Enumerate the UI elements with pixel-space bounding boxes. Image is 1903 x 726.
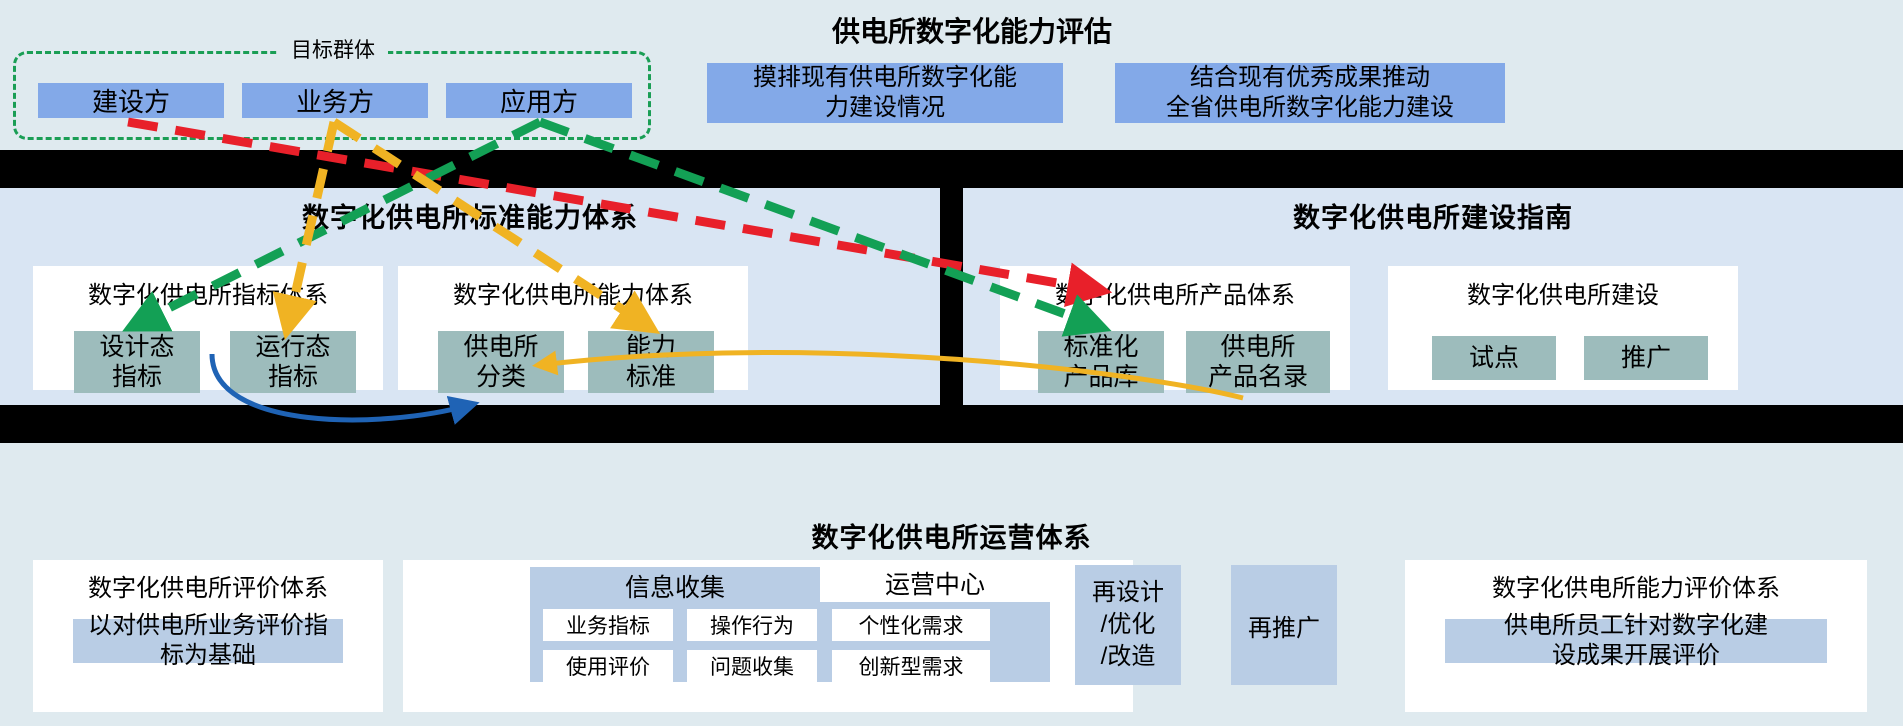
leaf-station-product-catalog[interactable]: 供电所 产品名录 xyxy=(1186,331,1330,393)
leaf-station-product-catalog-label: 供电所 产品名录 xyxy=(1208,332,1308,392)
ops-center-label: 运营中心 xyxy=(820,564,1050,602)
top-message-0: 摸排现有供电所数字化能 力建设情况 xyxy=(707,63,1063,123)
leaf-station-classification-label: 供电所 分类 xyxy=(463,332,538,392)
target-group-item-0-label: 建设方 xyxy=(92,82,170,119)
chip-innovative-demand-label: 创新型需求 xyxy=(859,651,964,681)
card-evaluation-system-title: 数字化供电所评价体系 xyxy=(33,568,383,603)
info-collect-label: 信息收集 xyxy=(530,567,820,605)
chip-operation-behavior-label: 操作行为 xyxy=(710,610,794,640)
leaf-capability-standard[interactable]: 能力 标准 xyxy=(588,331,714,393)
leaf-capability-standard-label: 能力 标准 xyxy=(626,332,676,392)
info-collect-label-text: 信息收集 xyxy=(625,568,725,604)
target-group-label: 目标群体 xyxy=(278,36,388,66)
card-station-construction-title: 数字化供电所建设 xyxy=(1388,275,1738,310)
repromote-box-label: 再推广 xyxy=(1248,608,1320,643)
chip-usage-evaluation-label: 使用评价 xyxy=(566,651,650,681)
evaluation-system-body-label: 以对供电所业务评价指 标为基础 xyxy=(88,611,328,671)
chip-usage-evaluation[interactable]: 使用评价 xyxy=(543,650,673,682)
card-capability-system-title: 数字化供电所能力体系 xyxy=(398,275,748,310)
repromote-box[interactable]: 再推广 xyxy=(1231,565,1337,685)
target-group-item-1[interactable]: 业务方 xyxy=(242,83,428,118)
ops-center-label-text: 运营中心 xyxy=(885,565,985,601)
leaf-design-state-indicator[interactable]: 设计态 指标 xyxy=(74,331,200,393)
card-indicator-system-title: 数字化供电所指标体系 xyxy=(33,275,383,310)
leaf-pilot[interactable]: 试点 xyxy=(1432,336,1556,380)
capability-evaluation-body-label: 供电所员工针对数字化建 设成果开展评价 xyxy=(1504,611,1768,671)
operation-system-section-title: 数字化供电所运营体系 xyxy=(0,516,1903,555)
card-product-system-title: 数字化供电所产品体系 xyxy=(1000,275,1350,310)
leaf-design-state-indicator-label: 设计态 指标 xyxy=(99,332,174,392)
middle-band-vertical-divider xyxy=(940,150,963,405)
construction-guide-section-title: 数字化供电所建设指南 xyxy=(963,196,1903,235)
target-group-item-2[interactable]: 应用方 xyxy=(446,83,632,118)
leaf-standard-product-library[interactable]: 标准化 产品库 xyxy=(1038,331,1164,393)
chip-operation-behavior[interactable]: 操作行为 xyxy=(687,609,817,641)
chip-issue-collection-label: 问题收集 xyxy=(710,651,794,681)
chip-personalized-demand-label: 个性化需求 xyxy=(859,610,964,640)
leaf-promotion[interactable]: 推广 xyxy=(1584,336,1708,380)
top-message-1-label: 结合现有优秀成果推动 全省供电所数字化能力建设 xyxy=(1166,63,1454,123)
chip-business-indicator-label: 业务指标 xyxy=(566,610,650,640)
leaf-promotion-label: 推广 xyxy=(1621,343,1671,373)
leaf-runtime-state-indicator[interactable]: 运行态 指标 xyxy=(230,331,356,393)
top-message-0-label: 摸排现有供电所数字化能 力建设情况 xyxy=(753,63,1017,123)
diagram-root: 供电所数字化能力评估 目标群体 建设方 业务方 应用方 摸排现有供电所数字化能 … xyxy=(0,0,1903,726)
card-capability-evaluation-title: 数字化供电所能力评价体系 xyxy=(1405,568,1867,603)
standard-capability-section-title: 数字化供电所标准能力体系 xyxy=(0,196,940,235)
page-title: 供电所数字化能力评估 xyxy=(612,10,1332,46)
target-group-item-2-label: 应用方 xyxy=(500,82,578,119)
redesign-box[interactable]: 再设计 /优化 /改造 xyxy=(1075,565,1181,685)
redesign-box-label: 再设计 /优化 /改造 xyxy=(1092,577,1164,673)
target-group-item-1-label: 业务方 xyxy=(296,82,374,119)
leaf-pilot-label: 试点 xyxy=(1469,343,1519,373)
evaluation-system-body: 以对供电所业务评价指 标为基础 xyxy=(73,619,343,663)
chip-business-indicator[interactable]: 业务指标 xyxy=(543,609,673,641)
top-message-1: 结合现有优秀成果推动 全省供电所数字化能力建设 xyxy=(1115,63,1505,123)
middle-band-bottom-divider xyxy=(0,405,1903,443)
chip-personalized-demand[interactable]: 个性化需求 xyxy=(832,609,990,641)
leaf-standard-product-library-label: 标准化 产品库 xyxy=(1063,332,1138,392)
chip-innovative-demand[interactable]: 创新型需求 xyxy=(832,650,990,682)
target-group-item-0[interactable]: 建设方 xyxy=(38,83,224,118)
capability-evaluation-body: 供电所员工针对数字化建 设成果开展评价 xyxy=(1445,619,1827,663)
chip-issue-collection[interactable]: 问题收集 xyxy=(687,650,817,682)
leaf-station-classification[interactable]: 供电所 分类 xyxy=(438,331,564,393)
leaf-runtime-state-indicator-label: 运行态 指标 xyxy=(255,332,330,392)
